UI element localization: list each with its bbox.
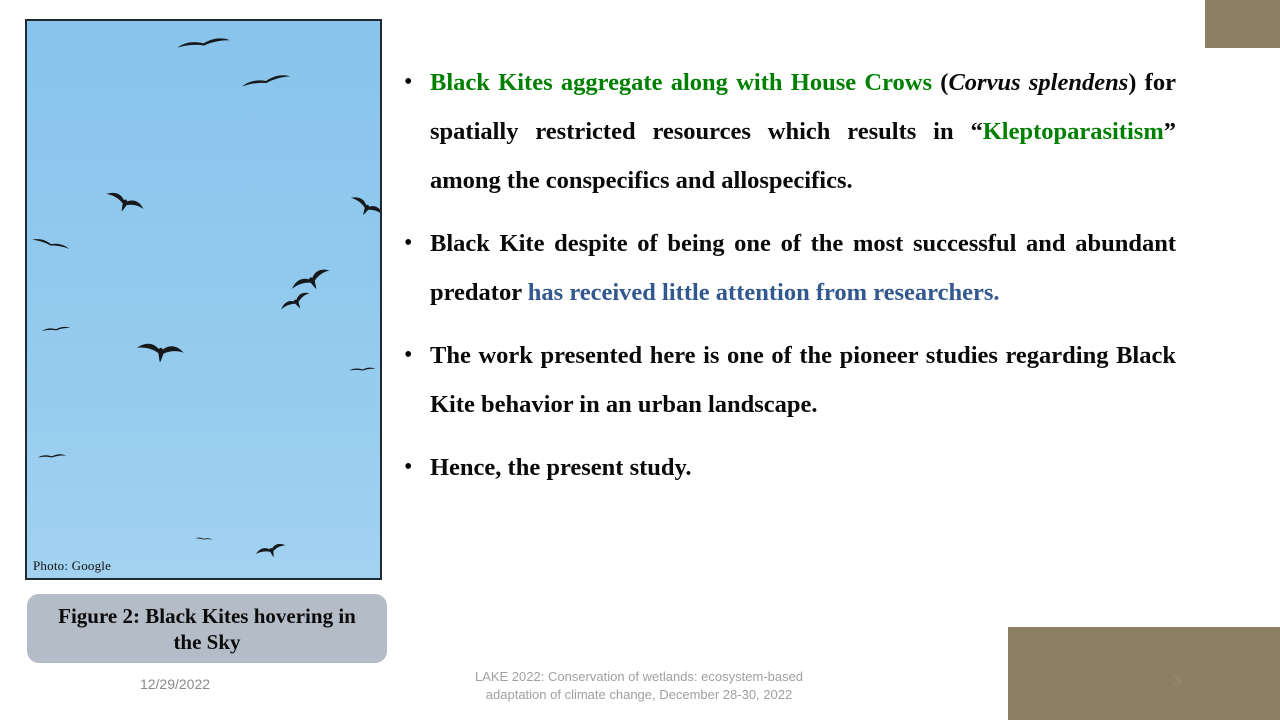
figure-photo-black-kites: Photo: Google — [25, 19, 382, 580]
figure-caption: Figure 2: Black Kites hovering in the Sk… — [27, 594, 387, 663]
bullet-text-3: The work presented here is one of the pi… — [430, 331, 1176, 429]
decorative-block-bottom-right — [1008, 627, 1280, 720]
photo-credit-label: Photo: Google — [33, 558, 111, 574]
run-plain: The work presented here is one of the pi… — [430, 342, 1176, 418]
bullet-marker-icon: • — [404, 331, 430, 380]
bullet-text-2: Black Kite despite of being one of the m… — [430, 219, 1176, 317]
bullet-item-2: • Black Kite despite of being one of the… — [404, 219, 1176, 317]
sky-with-kites-illustration — [27, 21, 380, 578]
decorative-block-top-right — [1205, 0, 1280, 48]
run-green: Black Kites aggregate along with House C… — [430, 69, 940, 96]
run-green-kleptoparasitism: Kleptoparasitism — [983, 118, 1164, 145]
run-blue: has received little attention from resea… — [528, 279, 1000, 306]
bullet-text-1: Black Kites aggregate along with House C… — [430, 58, 1176, 205]
bullet-item-4: • Hence, the present study. — [404, 443, 1176, 492]
run-italic-species: Corvus splendens — [948, 69, 1128, 96]
footer-date: 12/29/2022 — [60, 676, 290, 692]
bullet-marker-icon: • — [404, 58, 430, 107]
footer-conference-line-2: adaptation of climate change, December 2… — [404, 686, 874, 704]
slide-root: { "slide": { "number": "3", "accent_colo… — [0, 0, 1280, 720]
footer-conference-line-1: LAKE 2022: Conservation of wetlands: eco… — [404, 668, 874, 686]
slide-body-bullets: • Black Kites aggregate along with House… — [404, 58, 1176, 506]
bullet-marker-icon: • — [404, 443, 430, 492]
bullet-item-3: • The work presented here is one of the … — [404, 331, 1176, 429]
slide-number: 3 — [1162, 672, 1192, 689]
bullet-text-4: Hence, the present study. — [430, 443, 1176, 492]
bullet-item-1: • Black Kites aggregate along with House… — [404, 58, 1176, 205]
bullet-marker-icon: • — [404, 219, 430, 268]
run-plain: Hence, the present study. — [430, 454, 692, 481]
footer-conference-title: LAKE 2022: Conservation of wetlands: eco… — [404, 668, 874, 704]
